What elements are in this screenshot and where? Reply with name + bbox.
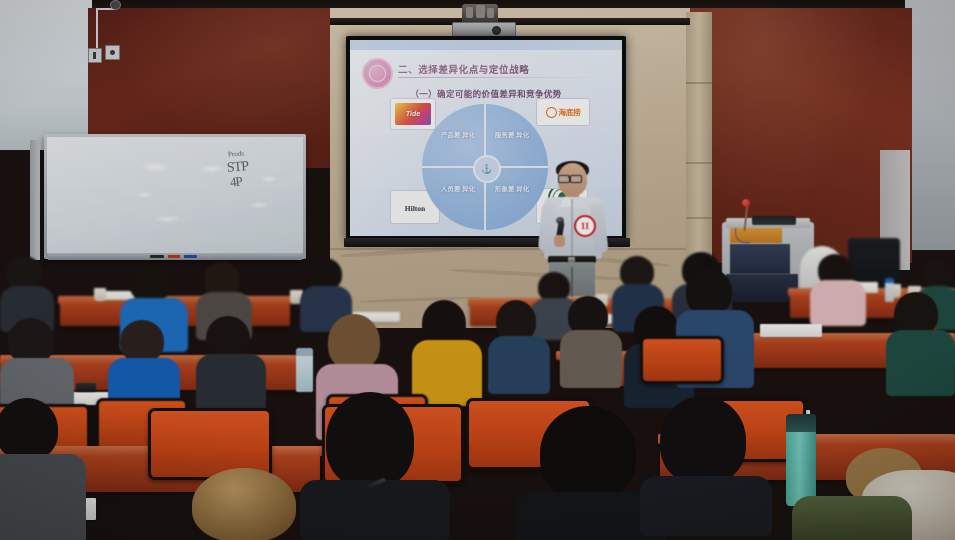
- wall-outlet-left[interactable]: [88, 48, 102, 63]
- differentiation-quadrant-diagram: 产品差 异化 服务差 异化 人员差 异化 形象差 异化 ⚓: [422, 104, 548, 230]
- marker-icon[interactable]: [168, 255, 180, 258]
- projector-mount: [462, 4, 498, 24]
- quadrant-label-people: 人员差 异化: [438, 186, 478, 194]
- wall-sensor: [110, 0, 121, 10]
- lectern-monitor: [752, 216, 796, 225]
- lectern-control-panel[interactable]: [730, 244, 790, 274]
- paper-cup: [94, 288, 106, 301]
- seat-back: [640, 336, 724, 384]
- badge-number: 11: [581, 221, 590, 231]
- wall-cable: [96, 8, 98, 48]
- anchor-icon: ⚓: [473, 155, 501, 183]
- slide-title: 二、选择差异化点与定位战略: [398, 62, 529, 76]
- stone-column: [686, 12, 712, 262]
- quadrant-label-service: 服务差 异化: [492, 132, 532, 140]
- paper-sheet: [760, 324, 822, 337]
- university-seal-icon: [362, 58, 393, 89]
- green-jacket: [792, 496, 912, 540]
- whiteboard-stand: [30, 140, 40, 260]
- whiteboard-note-4p: 4P: [229, 173, 242, 190]
- projector-lens-icon: [492, 26, 501, 35]
- eyeglasses-bridge: [568, 177, 571, 178]
- quadrant-label-product: 产品差 异化: [438, 132, 478, 140]
- right-white-wall: [905, 0, 955, 250]
- stone-seam: [330, 248, 690, 250]
- slide-top-strip: [350, 40, 622, 50]
- eyeglasses-icon: [570, 175, 582, 183]
- marker-icon[interactable]: [184, 255, 197, 258]
- slide-title-underline: [398, 77, 604, 78]
- thermos-white: [296, 348, 313, 392]
- thermos-teal: [786, 414, 816, 506]
- water-bottle: [885, 278, 894, 302]
- lectern-base: [726, 274, 798, 302]
- phone-icon[interactable]: [76, 383, 96, 392]
- whiteboard-surface: [47, 137, 303, 253]
- haidilao-wordmark: 海底捞: [559, 107, 581, 118]
- tide-wordmark: Tide: [406, 111, 420, 118]
- microphone-icon: [742, 199, 750, 207]
- presenter-trouser-seam: [571, 267, 573, 297]
- wall-outlet-right[interactable]: [105, 45, 120, 60]
- presenter-hand: [554, 235, 565, 247]
- left-white-wall: [0, 0, 92, 150]
- quadrant-label-image: 形象差 异化: [492, 186, 532, 194]
- whiteboard-note-prods: Prods: [228, 149, 244, 158]
- marker-icon[interactable]: [150, 255, 164, 258]
- lecture-hall-photo: 二、选择差异化点与定位战略 （一）确定可能的价值差异和竞争优势 Tide 海底捞…: [0, 0, 955, 540]
- presenter-number-badge: 11: [574, 215, 596, 237]
- presenter-shirt-placket: [571, 199, 573, 257]
